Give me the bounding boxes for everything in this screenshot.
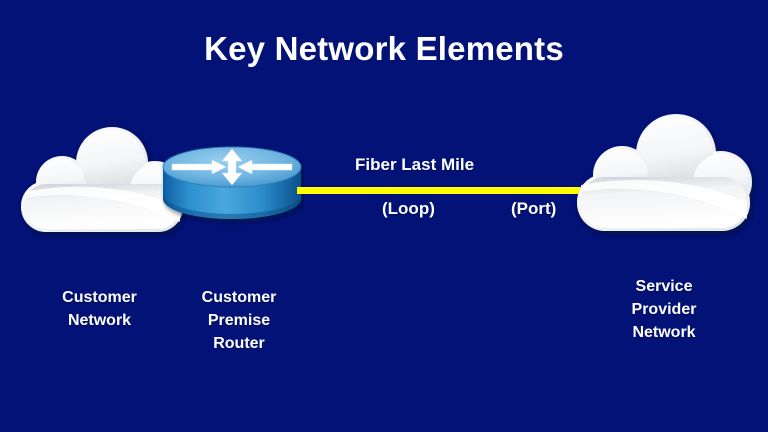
cloud-icon-service-provider-network [566, 112, 760, 239]
caption-line: Service [578, 275, 750, 298]
caption-line: Network [22, 309, 177, 332]
router-icon-customer-premise [160, 141, 304, 231]
caption-line: Provider [578, 298, 750, 321]
caption-line: Router [166, 332, 312, 355]
slide-canvas: Key Network Elements [0, 0, 768, 432]
caption-line: Customer [22, 286, 177, 309]
caption-service-provider-network: Service Provider Network [578, 275, 750, 344]
caption-line: Premise [166, 309, 312, 332]
page-title: Key Network Elements [0, 29, 768, 69]
caption-line: Customer [166, 286, 312, 309]
caption-customer-network: Customer Network [22, 286, 177, 332]
caption-customer-premise-router: Customer Premise Router [166, 286, 312, 355]
link-label-loop: (Loop) [382, 199, 435, 219]
link-label-fiber-last-mile: Fiber Last Mile [355, 155, 474, 175]
caption-line: Network [578, 321, 750, 344]
fiber-last-mile-link [297, 187, 581, 194]
link-label-port: (Port) [511, 199, 556, 219]
